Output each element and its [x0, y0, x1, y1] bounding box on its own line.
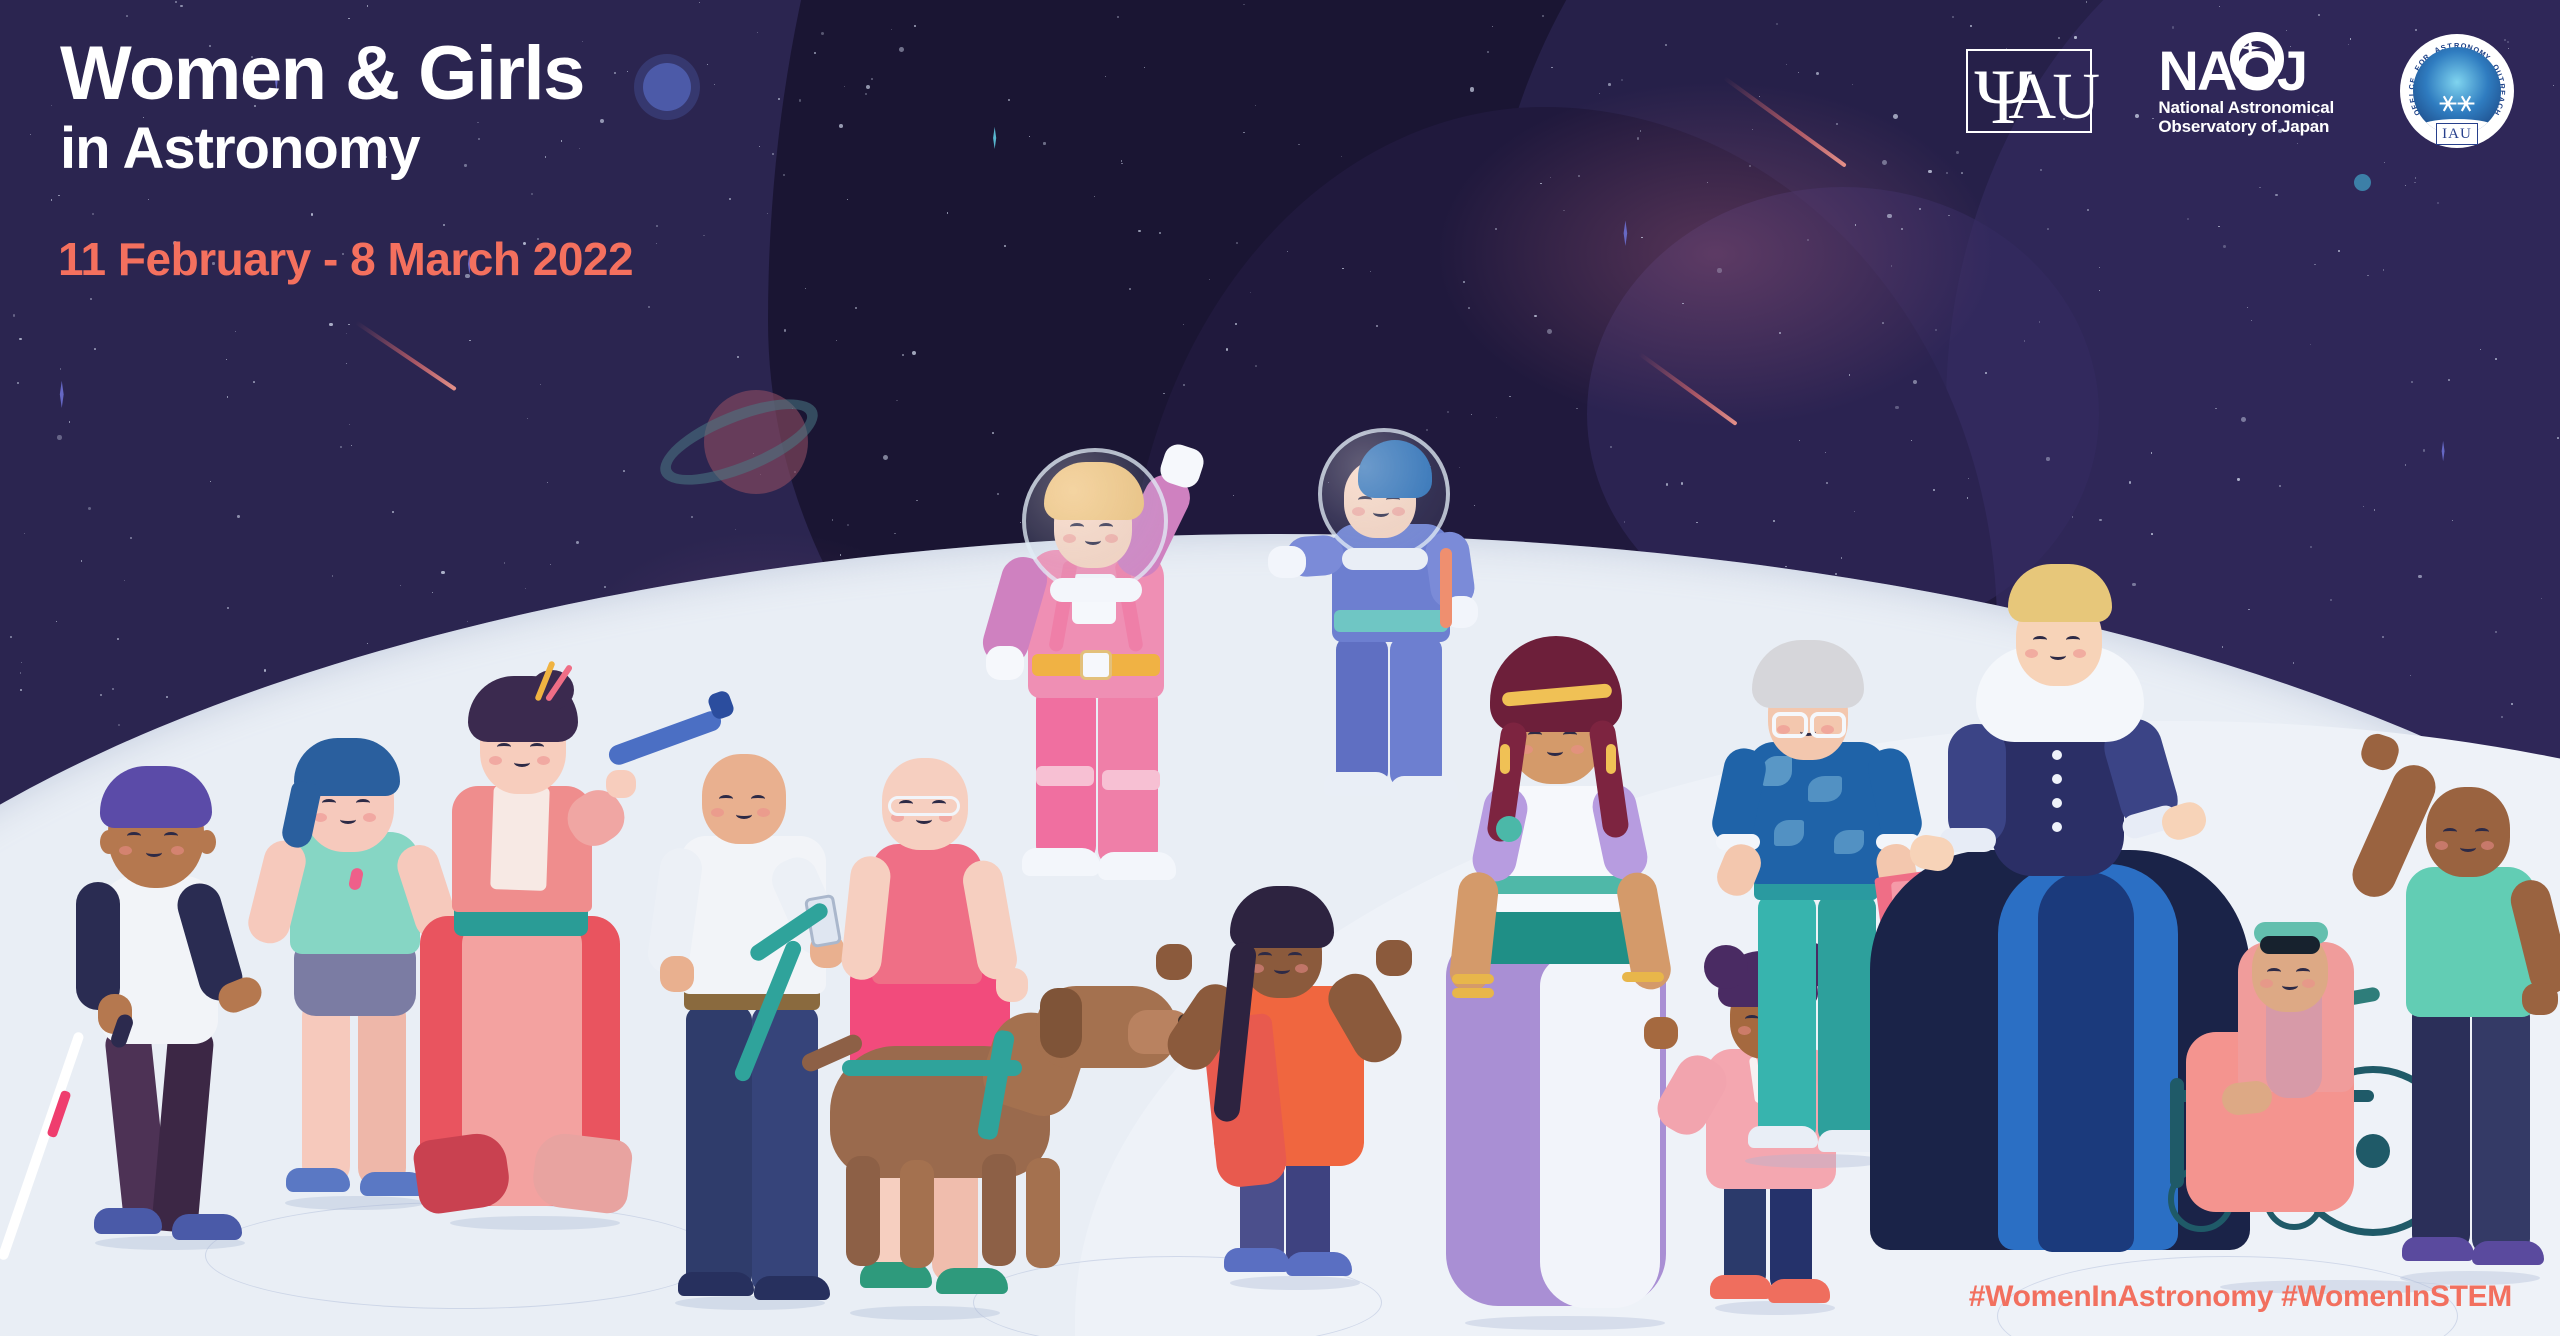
star [757, 32, 758, 33]
star [1138, 230, 1140, 232]
star [51, 105, 52, 106]
star [2215, 408, 2216, 409]
dog-leg [900, 1160, 934, 1268]
robe-skirt-white [1540, 956, 1660, 1308]
figure-leg [302, 996, 350, 1186]
star [1468, 307, 1470, 309]
iau-logo[interactable]: Ψ A U IAU [1966, 49, 2092, 133]
star [1121, 160, 1123, 162]
star [1841, 557, 1842, 558]
naoj-subtitle-line-2: Observatory of Japan [2158, 117, 2334, 136]
hashtags: #WomenInAstronomy #WomenInSTEM [1969, 1280, 2512, 1314]
star [1495, 228, 1497, 230]
suit-tube [1440, 548, 1452, 628]
star [2338, 250, 2340, 252]
star [180, 5, 182, 7]
star [896, 400, 898, 402]
figure-head [702, 754, 786, 844]
star [772, 153, 774, 155]
star [340, 446, 341, 447]
star [1551, 67, 1553, 69]
star [351, 445, 352, 446]
star [100, 694, 102, 696]
star [1159, 232, 1161, 234]
star [1852, 84, 1853, 85]
space-helmet [1022, 448, 1168, 594]
gold-bangle [1622, 972, 1664, 982]
figure-woman-afro-teal [2360, 721, 2560, 1281]
planet-blue-icon [643, 63, 691, 111]
glove [1268, 546, 1306, 578]
star [1599, 93, 1600, 94]
star [2241, 417, 2246, 422]
star [237, 515, 240, 518]
nebula-glow [1434, 80, 1997, 427]
star [1105, 76, 1106, 77]
star [783, 174, 785, 176]
star [1717, 268, 1721, 272]
oao-emblem-disc: ⚹⚹ [2413, 47, 2501, 135]
star [1967, 497, 1969, 499]
logo-row: Ψ A U IAU NAOJ National Astronomical Obs… [1966, 34, 2514, 148]
star [1463, 281, 1465, 283]
space-helmet [1318, 428, 1450, 560]
gold-bangle [1452, 974, 1494, 984]
star [2495, 631, 2496, 632]
star [1608, 83, 1611, 86]
star [1807, 239, 1809, 241]
earring [1500, 744, 1510, 774]
star [2218, 226, 2219, 227]
figure-hair [1230, 886, 1334, 948]
star [2129, 481, 2131, 483]
eyeglasses [888, 796, 960, 816]
star [2557, 437, 2559, 439]
star [253, 381, 255, 383]
gold-bangle [1452, 988, 1494, 998]
star [1773, 520, 1775, 522]
planet-small-icon [2354, 174, 2371, 191]
star [124, 580, 125, 581]
star [441, 571, 444, 574]
star [1682, 303, 1683, 304]
star [10, 636, 12, 638]
bodice-buttons [2052, 774, 2062, 784]
figure-pants [686, 1006, 752, 1286]
star [2411, 381, 2413, 383]
star [2418, 575, 2421, 578]
figure-pants [2412, 1001, 2470, 1251]
star [24, 533, 25, 534]
star [1043, 142, 1045, 144]
star [1785, 566, 1786, 567]
front-hair [2260, 936, 2320, 954]
star [844, 86, 845, 87]
star [60, 368, 62, 370]
dog-leg [1026, 1158, 1060, 1268]
floral-pattern [1774, 820, 1804, 846]
floral-pattern [1762, 756, 1792, 786]
suit-leg [1336, 636, 1388, 786]
star [2151, 533, 2153, 535]
shoe [678, 1272, 754, 1296]
star [20, 689, 22, 691]
wheelchair-frame [2170, 1078, 2184, 1188]
star [1637, 137, 1639, 139]
figure-hand [1376, 940, 1412, 976]
shoe [94, 1208, 162, 1234]
eyeglasses [1810, 712, 1846, 738]
naoj-logo[interactable]: NAOJ National Astronomical Observatory o… [2158, 46, 2334, 136]
star [1882, 322, 1884, 324]
oao-iau-emblem: IAU [2436, 123, 2478, 145]
star [1624, 521, 1625, 522]
naoj-wordmark: NAOJ [2158, 46, 2306, 96]
star [1826, 482, 1828, 484]
star [883, 455, 888, 460]
star [1895, 406, 1899, 410]
star [20, 672, 22, 674]
star [1928, 170, 1931, 173]
figure-hand [2522, 983, 2558, 1015]
star [1008, 99, 1010, 101]
star [947, 212, 949, 214]
star [1836, 123, 1838, 125]
star [2047, 228, 2049, 230]
star [1370, 271, 1371, 272]
figure-ear [198, 830, 216, 854]
figure-leg [358, 996, 406, 1188]
figure-pants [2472, 1001, 2530, 1255]
star [1233, 495, 1234, 496]
star [699, 2, 700, 3]
star [1471, 414, 1472, 415]
floral-pattern [1808, 776, 1842, 802]
historic-hair [2008, 564, 2112, 622]
figure-hand [606, 770, 636, 798]
dog-leg [982, 1154, 1016, 1266]
figure-hand [1644, 1017, 1678, 1049]
star [2448, 379, 2450, 381]
star [1696, 522, 1697, 523]
star [126, 15, 128, 17]
star [2046, 457, 2049, 460]
poster-canvas: Women & Girls in Astronomy 11 February -… [0, 0, 2560, 1336]
bodice-belt [1490, 876, 1628, 894]
belt-buckle [1080, 650, 1112, 680]
oao-figures-icon: ⚹⚹ [2413, 87, 2501, 117]
knee-patch [1036, 766, 1094, 786]
star [2172, 26, 2174, 28]
shoe [286, 1168, 350, 1192]
boot [1324, 772, 1392, 796]
star [623, 470, 625, 472]
floral-pattern [1834, 830, 1864, 854]
helmet-collar [1342, 548, 1428, 570]
star [90, 298, 92, 300]
star [729, 198, 731, 200]
eyeglasses [1772, 712, 1808, 738]
figure-sleeve-left [76, 882, 120, 1010]
figure-legs [151, 1024, 215, 1233]
bodice-buttons [2052, 822, 2062, 832]
figure-ear [100, 830, 118, 854]
shoulder-badge [1496, 816, 1522, 842]
dog-ear [1040, 988, 1082, 1058]
event-dates: 11 February - 8 March 2022 [58, 232, 633, 286]
figure-boy-with-white-cane [60, 726, 280, 1246]
helmet-collar [1050, 578, 1142, 602]
star [57, 435, 62, 440]
star [1550, 177, 1551, 178]
figure-hand [1156, 944, 1192, 980]
shoe [2472, 1241, 2544, 1265]
star [839, 124, 843, 128]
earring [1606, 744, 1616, 774]
figure-hair [100, 766, 212, 828]
figure-pants [1758, 894, 1816, 1142]
page-title: Women & Girls in Astronomy [60, 38, 584, 177]
star [1255, 105, 1256, 106]
shoe [1710, 1275, 1772, 1299]
shoe [172, 1214, 242, 1240]
star [2382, 636, 2383, 637]
dog-harness-strap [842, 1060, 1022, 1076]
star [1759, 96, 1760, 97]
bodice-buttons [2052, 798, 2062, 808]
star [784, 329, 786, 331]
star [1970, 25, 1972, 27]
star [656, 243, 657, 244]
star [1985, 372, 1987, 374]
figure-head [2426, 787, 2510, 877]
star [1968, 478, 1969, 479]
figure-guide-dog [790, 956, 1210, 1286]
star [1621, 79, 1623, 81]
star [329, 323, 333, 327]
star [332, 575, 333, 576]
star [1447, 411, 1449, 413]
star [94, 348, 96, 350]
star [2423, 449, 2425, 451]
star [1961, 172, 1963, 174]
shoe [2402, 1237, 2474, 1261]
star [656, 225, 658, 227]
boot [1022, 848, 1100, 876]
star [117, 638, 119, 640]
gown-skirt-panel-dark [2038, 872, 2134, 1252]
star [467, 621, 468, 622]
star [1509, 396, 1510, 397]
knee-patch [1102, 770, 1160, 790]
star [2480, 349, 2481, 350]
figure-woman-kimono [410, 666, 660, 1226]
figure-hand [2358, 730, 2403, 773]
star [1891, 265, 1892, 266]
star [367, 643, 368, 644]
star [1129, 288, 1131, 290]
star [2405, 185, 2406, 186]
star [1255, 365, 1257, 367]
figure-girl-with-guide-dog [1170, 886, 1420, 1286]
star [2293, 662, 2294, 663]
star [2367, 275, 2368, 276]
star [836, 340, 837, 341]
star [1786, 64, 1787, 65]
star [1563, 210, 1565, 212]
oao-logo[interactable]: OFFICE FOR ASTRONOMY OUTREACH ⚹⚹ IAU [2400, 34, 2514, 148]
star [2414, 182, 2416, 184]
bodice-buttons [2052, 750, 2062, 760]
kimono-collar [490, 785, 550, 891]
star [1893, 114, 1898, 119]
star [1641, 237, 1643, 239]
shoe [1286, 1252, 1352, 1276]
figure-hair [1752, 640, 1864, 708]
title-line-1: Women & Girls [60, 31, 584, 116]
figure-astronaut-pink [980, 432, 1210, 902]
star [703, 235, 704, 236]
star [1933, 489, 1935, 491]
figure-pants [1818, 894, 1876, 1144]
star [1576, 408, 1577, 409]
boot [1098, 852, 1176, 880]
shoe [1748, 1126, 1818, 1148]
star [348, 324, 349, 325]
shoe [1224, 1248, 1290, 1272]
star [805, 288, 806, 289]
glove [986, 646, 1024, 680]
star [1029, 136, 1030, 137]
naoj-ring-icon [2230, 32, 2284, 86]
star [210, 481, 211, 482]
star [2495, 358, 2497, 360]
star [235, 331, 236, 332]
star [1749, 165, 1751, 167]
star [264, 669, 266, 671]
star [614, 72, 616, 74]
star [30, 134, 31, 135]
star [767, 213, 768, 214]
title-line-2: in Astronomy [60, 121, 584, 177]
figure-hand [660, 956, 694, 992]
star [1487, 51, 1489, 53]
star [13, 314, 15, 316]
dog-leg [846, 1156, 880, 1266]
star [1250, 292, 1251, 293]
star [2318, 14, 2320, 16]
star [1547, 329, 1552, 334]
star [2223, 245, 2226, 248]
star [2237, 478, 2239, 480]
star [1952, 16, 1953, 17]
shoe [1768, 1279, 1830, 1303]
